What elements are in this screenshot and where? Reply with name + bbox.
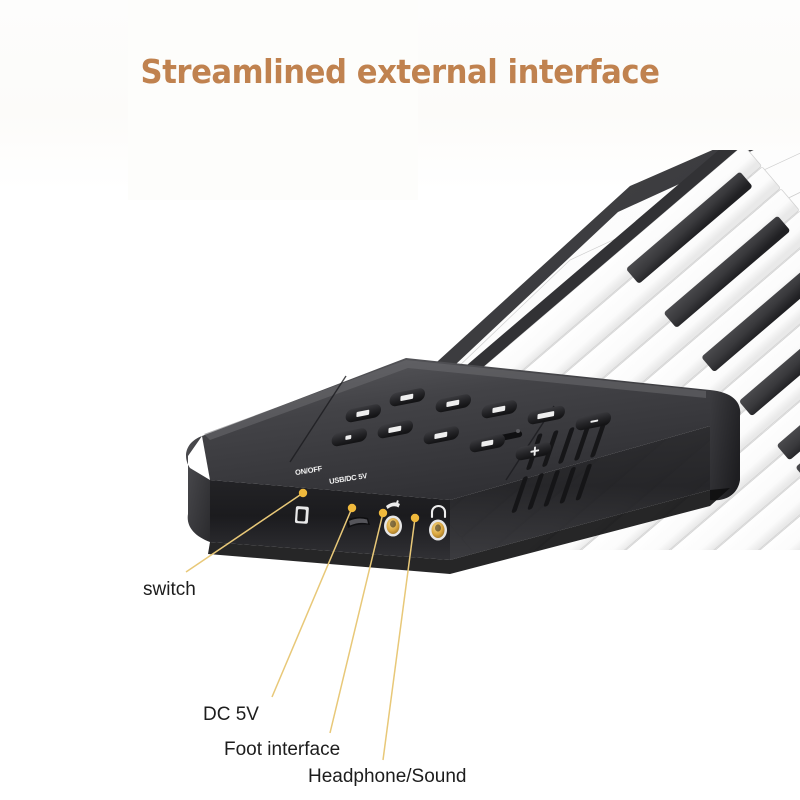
leader-line-switch xyxy=(186,493,303,572)
leader-dot-hp xyxy=(411,514,419,522)
callout-leader-lines xyxy=(0,0,800,800)
leader-line-hp xyxy=(383,518,415,760)
callout-label-switch: switch xyxy=(140,578,199,602)
leader-dot-switch xyxy=(299,489,307,497)
callout-label-headphone-sound: Headphone/Sound xyxy=(305,765,469,789)
product-image-canvas: Streamlined external interface xyxy=(0,0,800,800)
leader-line-dc xyxy=(272,508,352,697)
leader-dot-dc xyxy=(348,504,356,512)
callout-label-foot-interface: Foot interface xyxy=(221,738,343,762)
callout-label-dc-5v: DC 5V xyxy=(200,703,262,727)
leader-line-foot xyxy=(330,513,383,733)
leader-dot-foot xyxy=(379,509,387,517)
